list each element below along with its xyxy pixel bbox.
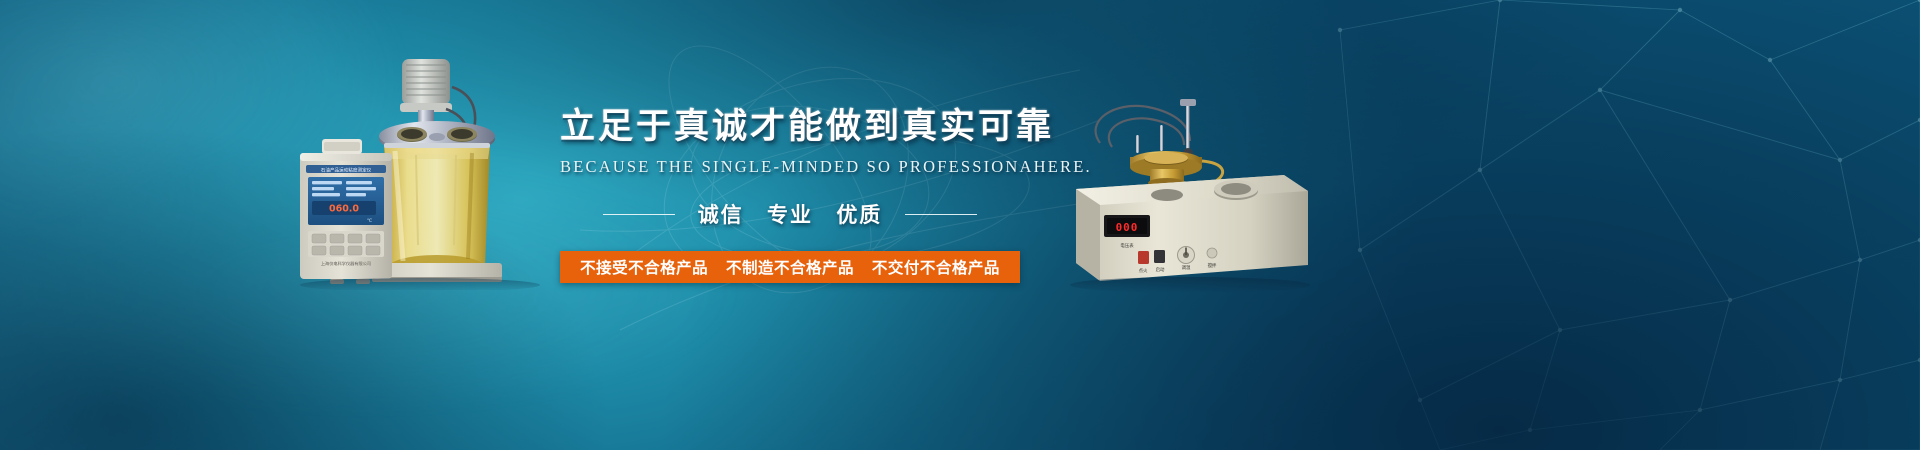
controller-temperature-value: 060.0: [329, 204, 359, 215]
pledge-item-2: 不制造不合格产品: [726, 259, 854, 277]
controller-unit: 石油产品运动粘度测定仪 060.0 ℃: [300, 139, 392, 284]
controller-footer-text: 上海仪电科学仪器有限公司: [321, 260, 371, 267]
start-button-label: 启动: [1156, 266, 1165, 273]
tagline-word-3: 优质: [836, 203, 882, 227]
banner-copy-block: 立足于真诚才能做到真实可靠 BECAUSE THE SINGLE-MINDED …: [560, 110, 1020, 283]
pledge-item-3: 不交付不合格产品: [872, 259, 1000, 277]
tagline-rule-right: [905, 214, 977, 215]
background-polygon-mesh: [1300, 0, 1920, 450]
banner-tagline-row: 诚信 专业 优质: [560, 199, 1020, 229]
ignition-button: [1138, 251, 1149, 264]
tagline-word-2: 专业: [767, 203, 813, 227]
stirrer-motor: [400, 59, 452, 126]
promo-banner: 石油产品运动粘度测定仪 060.0 ℃: [0, 0, 1920, 450]
controller-temperature-unit: ℃: [367, 218, 372, 224]
stir-control-label: 搅拌: [1208, 262, 1217, 269]
banner-headline: 立足于真诚才能做到真实可靠: [560, 110, 1020, 145]
instrument-wiring: [1096, 106, 1190, 147]
quality-pledge-text: 不接受不合格产品 不制造不合格产品 不交付不合格产品: [574, 256, 1006, 278]
start-button: [1154, 250, 1165, 263]
oil-bath-beaker: [384, 143, 490, 279]
viscometer-instrument-image: 石油产品运动粘度测定仪 060.0 ℃: [300, 55, 550, 290]
thermometer-assembly: [1136, 99, 1196, 158]
pledge-item-1: 不接受不合格产品: [580, 259, 708, 277]
banner-subheadline: BECAUSE THE SINGLE-MINDED SO PROFESSIONA…: [560, 157, 1020, 177]
temperature-knob-label: 调温: [1182, 264, 1191, 271]
controller-title: 石油产品运动粘度测定仪: [321, 166, 372, 173]
banner-tagline: 诚信 专业 优质: [691, 199, 890, 229]
voltage-display-value: 000: [1116, 221, 1139, 234]
ignition-button-label: 点火: [1139, 268, 1148, 274]
stir-knob: [1207, 248, 1217, 258]
flash-point-tester-image: 000 电压表 点火 启动 调温 搅拌: [1040, 95, 1320, 295]
tagline-word-1: 诚信: [698, 203, 744, 227]
controller-keypad: [308, 231, 384, 257]
tagline-rule-left: [603, 214, 675, 215]
voltage-meter-label: 电压表: [1120, 242, 1134, 249]
quality-pledge-bar: 不接受不合格产品 不制造不合格产品 不交付不合格产品: [560, 251, 1020, 283]
